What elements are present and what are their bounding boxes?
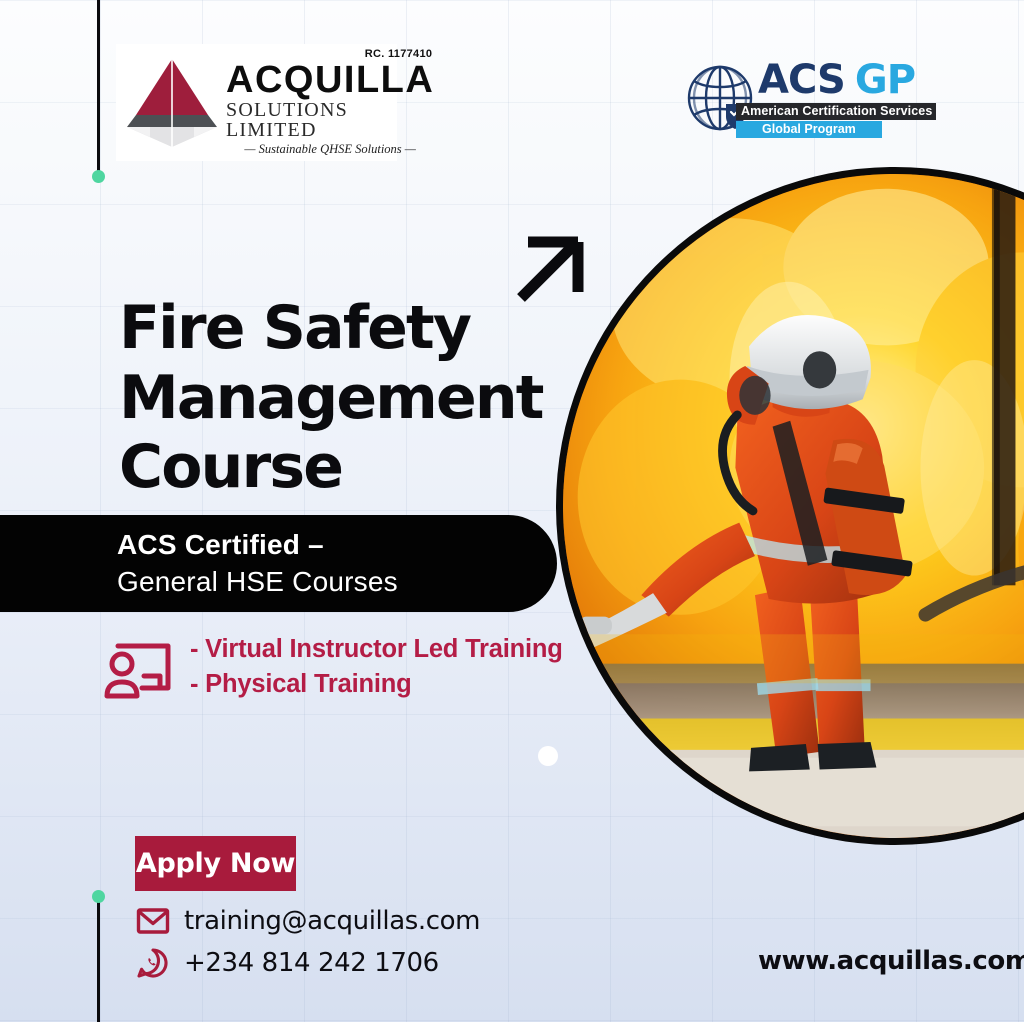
poster-canvas: RC. 1177410 ACQUILLA SOLUTIONS LIMITED —… (0, 0, 1024, 1022)
training-mode-item: - Physical Training (190, 667, 563, 702)
whatsapp-icon (136, 948, 170, 978)
apply-now-button[interactable]: Apply Now (135, 836, 296, 891)
accent-line-top (97, 0, 100, 178)
acquilla-logo: RC. 1177410 ACQUILLA SOLUTIONS LIMITED —… (116, 44, 397, 161)
acquilla-tagline: — Sustainable QHSE Solutions — (244, 143, 416, 156)
acquilla-wordmark: RC. 1177410 ACQUILLA SOLUTIONS LIMITED —… (226, 49, 434, 156)
firefighters-photo (563, 174, 1024, 838)
contact-email-text: training@acquillas.com (184, 906, 480, 936)
accent-dot-top (92, 170, 105, 183)
envelope-icon (136, 906, 170, 936)
training-modes: - Virtual Instructor Led Training - Phys… (104, 632, 563, 702)
acquilla-subtitle: SOLUTIONS LIMITED (226, 100, 434, 140)
acs-gp-wordmark: ACSGP American Certification Services Gl… (758, 60, 948, 138)
training-mode-item: - Virtual Instructor Led Training (190, 632, 563, 667)
page-title: Fire Safety Management Course (119, 294, 549, 503)
acquilla-diamond-icon (122, 55, 222, 151)
acs-tagline-american: American Certification Services (736, 103, 936, 120)
acs-gp-initials: ACSGP (758, 60, 948, 102)
contact-email-row[interactable]: training@acquillas.com (136, 906, 480, 936)
website-url[interactable]: www.acquillas.com (758, 946, 1024, 976)
banner-line-courses: General HSE Courses (117, 563, 557, 601)
contact-phone-text: +234 814 242 1706 (184, 948, 439, 978)
contact-phone-row[interactable]: +234 814 242 1706 (136, 948, 439, 978)
acs-gp-logo: ACSGP American Certification Services Gl… (686, 60, 948, 142)
accent-line-bottom (97, 896, 100, 1022)
training-modes-list: - Virtual Instructor Led Training - Phys… (190, 632, 563, 701)
acs-initials-primary: ACS (758, 57, 845, 103)
acs-tagline-global: Global Program (736, 121, 882, 138)
hero-image-circle (556, 167, 1024, 845)
banner-line-certified: ACS Certified – (117, 527, 557, 563)
acquilla-name: ACQUILLA (226, 61, 434, 99)
certification-banner: ACS Certified – General HSE Courses (0, 515, 557, 612)
decorative-white-dot (538, 746, 558, 766)
accent-dot-bottom (92, 890, 105, 903)
acs-initials-secondary: GP (855, 57, 915, 103)
virtual-training-icon (104, 636, 180, 702)
